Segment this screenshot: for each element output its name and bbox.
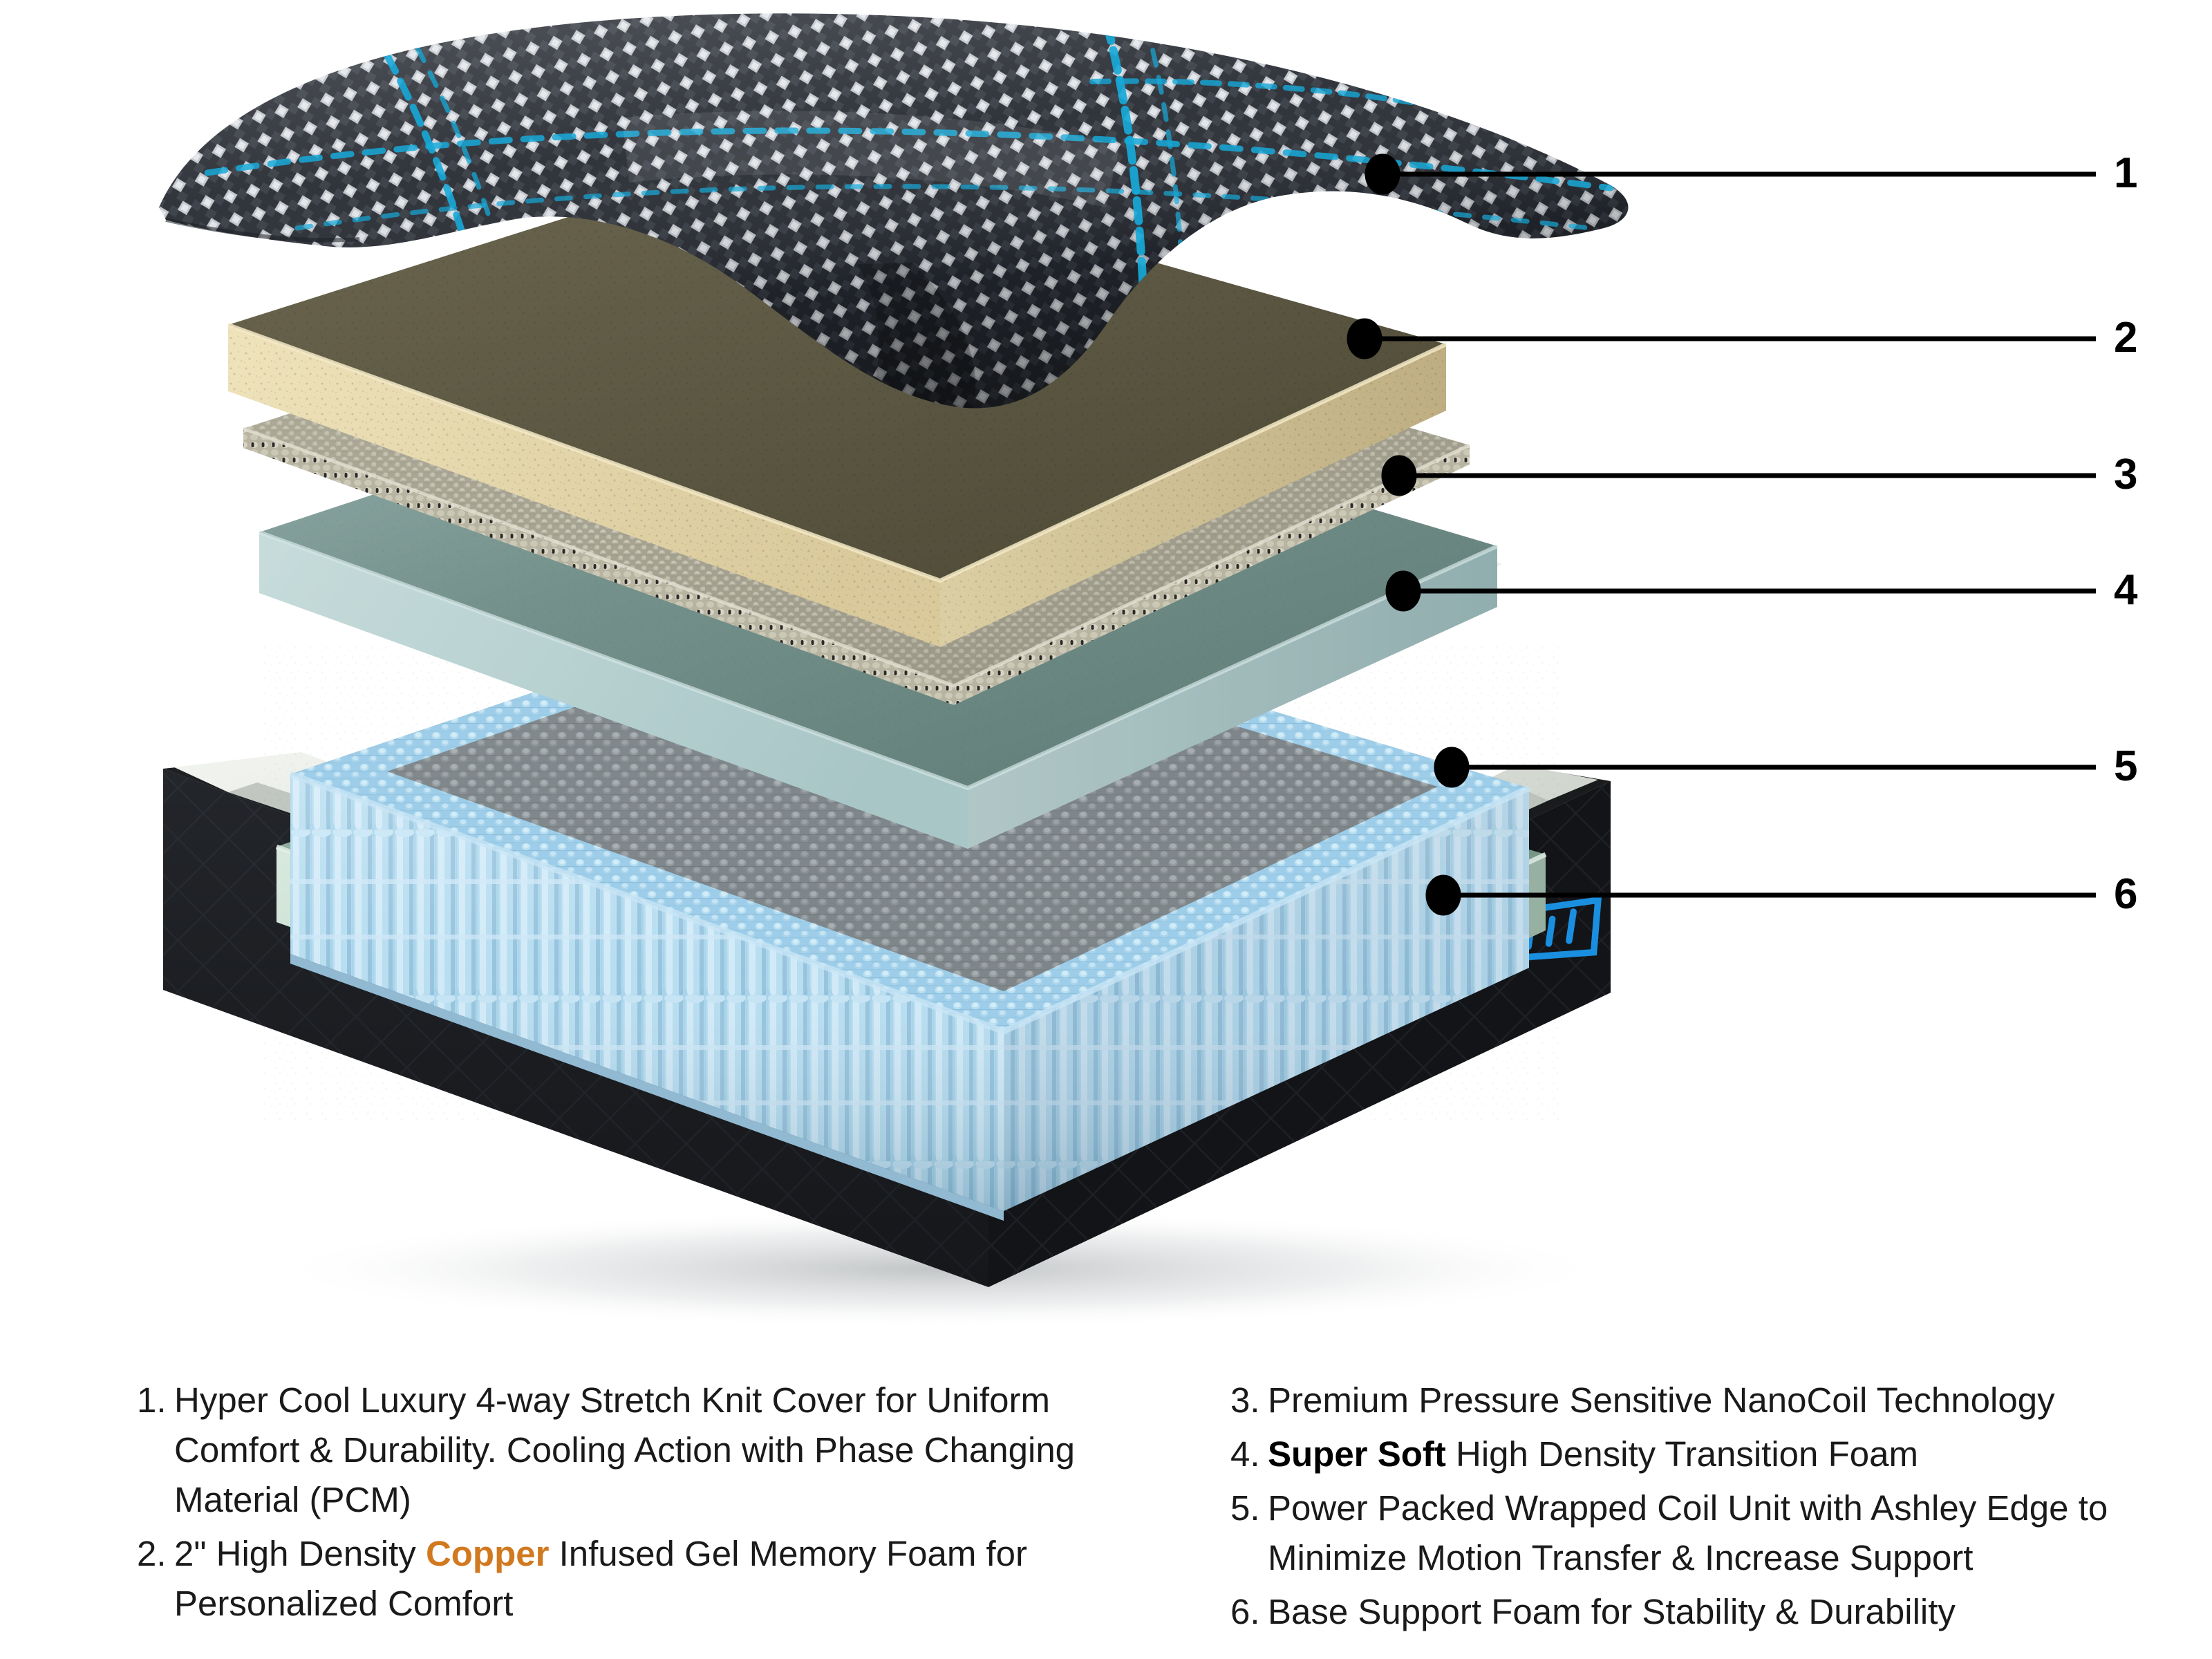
legend-item-2-number: 2. — [137, 1529, 174, 1579]
mattress-cutaway-diagram: 1 2 3 4 5 6 — [0, 0, 2212, 1355]
callout-label-1: 1 — [2114, 152, 2137, 195]
mattress-layers-illustration — [0, 0, 2212, 1355]
legend-item-4: 4. Super Soft High Density Transition Fo… — [1230, 1430, 2212, 1479]
legend-item-4-text: Super Soft High Density Transition Foam — [1268, 1430, 2212, 1479]
legend-item-3: 3. Premium Pressure Sensitive NanoCoil T… — [1230, 1376, 2212, 1425]
legend-item-5-text: Power Packed Wrapped Coil Unit with Ashl… — [1268, 1483, 2125, 1583]
legend-item-3-number: 3. — [1230, 1376, 1268, 1425]
legend-item-2: 2. 2" High Density Copper Infused Gel Me… — [137, 1529, 1106, 1629]
callout-label-2: 2 — [2114, 317, 2137, 359]
leader-dot-3 — [1384, 458, 1414, 494]
layer-legend: 1. Hyper Cool Luxury 4-way Stretch Knit … — [0, 1376, 2212, 1652]
callout-label-6: 6 — [2114, 873, 2137, 916]
super-soft-highlight: Super Soft — [1268, 1434, 1446, 1474]
legend-item-1-text: Hyper Cool Luxury 4-way Stretch Knit Cov… — [174, 1376, 1106, 1525]
legend-item-6-text: Base Support Foam for Stability & Durabi… — [1268, 1587, 2212, 1637]
callout-label-3: 3 — [2114, 453, 2137, 496]
legend-item-1: 1. Hyper Cool Luxury 4-way Stretch Knit … — [137, 1376, 1106, 1525]
leader-dot-2 — [1349, 321, 1380, 357]
leader-dot-6 — [1428, 877, 1459, 913]
callout-label-5: 5 — [2114, 745, 2137, 788]
leader-dot-5 — [1436, 749, 1467, 785]
legend-item-6: 6. Base Support Foam for Stability & Dur… — [1230, 1587, 2212, 1637]
copper-highlight: Copper — [426, 1534, 550, 1573]
legend-item-6-number: 6. — [1230, 1587, 1268, 1637]
legend-item-5-number: 5. — [1230, 1483, 1268, 1533]
legend-item-4-number: 4. — [1230, 1430, 1268, 1479]
legend-item-2-text: 2" High Density Copper Infused Gel Memor… — [174, 1529, 1106, 1629]
legend-item-5: 5. Power Packed Wrapped Coil Unit with A… — [1230, 1483, 2212, 1583]
legend-item-3-text: Premium Pressure Sensitive NanoCoil Tech… — [1268, 1376, 2212, 1425]
legend-item-1-number: 1. — [137, 1376, 174, 1425]
callout-label-4: 4 — [2114, 569, 2137, 612]
leader-dot-4 — [1388, 573, 1418, 609]
legend-column-right: 3. Premium Pressure Sensitive NanoCoil T… — [1106, 1376, 2212, 1641]
legend-column-left: 1. Hyper Cool Luxury 4-way Stretch Knit … — [0, 1376, 1106, 1633]
leader-dot-1 — [1367, 156, 1398, 192]
